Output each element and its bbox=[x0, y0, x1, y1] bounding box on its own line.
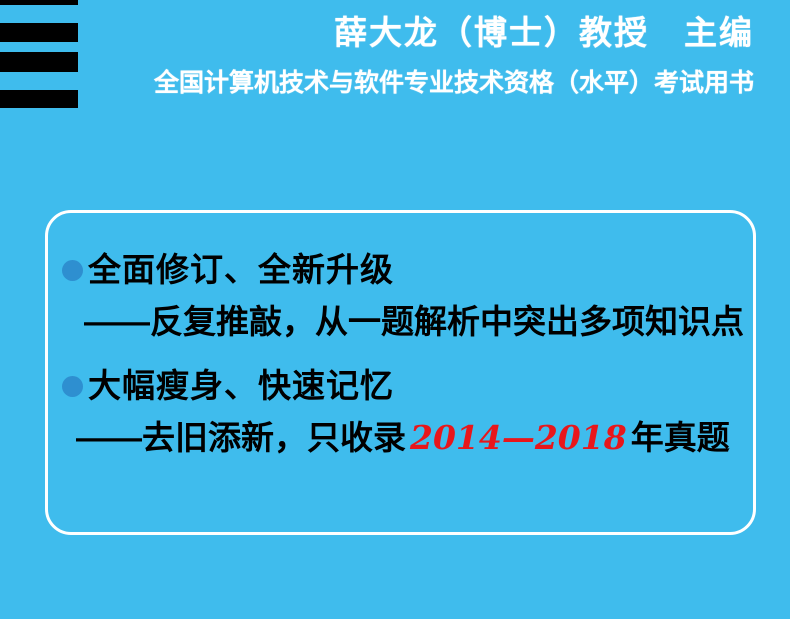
feature-title-row: 大幅瘦身、快速记忆 bbox=[62, 363, 745, 409]
feature-item: 全面修订、全新升级 ——反复推敲，从一题解析中突出多项知识点 bbox=[62, 247, 745, 345]
feature-item: 大幅瘦身、快速记忆 ——去旧添新，只收录2014—2018年真题 bbox=[62, 363, 745, 461]
feature-title-row: 全面修订、全新升级 bbox=[62, 247, 745, 293]
bullet-dot-icon bbox=[62, 376, 83, 397]
header: 薛大龙（博士）教授 主编 全国计算机技术与软件专业技术资格（水平）考试用书 bbox=[0, 0, 790, 104]
feature-detail-row: ——反复推敲，从一题解析中突出多项知识点 bbox=[62, 299, 745, 345]
poster-banner: 薛大龙（博士）教授 主编 全国计算机技术与软件专业技术资格（水平）考试用书 全面… bbox=[0, 0, 790, 619]
feature-detail-suffix: 年真题 bbox=[631, 419, 730, 456]
author-line: 薛大龙（博士）教授 主编 bbox=[0, 8, 754, 58]
feature-detail-prefix: ——反复推敲，从一题解析中突出多项知识点 bbox=[84, 303, 744, 340]
feature-detail-accent-years: 2014—2018 bbox=[406, 418, 631, 457]
bullet-dot-icon bbox=[62, 260, 83, 281]
feature-title-text: 大幅瘦身、快速记忆 bbox=[88, 366, 394, 406]
features-panel-inner: 全面修订、全新升级 ——反复推敲，从一题解析中突出多项知识点 大幅瘦身、快速记忆… bbox=[48, 213, 753, 532]
series-line: 全国计算机技术与软件专业技术资格（水平）考试用书 bbox=[0, 62, 754, 104]
feature-detail-row: ——去旧添新，只收录2014—2018年真题 bbox=[62, 415, 745, 461]
feature-detail-prefix: ——去旧添新，只收录 bbox=[76, 419, 406, 456]
features-panel: 全面修订、全新升级 ——反复推敲，从一题解析中突出多项知识点 大幅瘦身、快速记忆… bbox=[45, 210, 756, 535]
feature-title-text: 全面修订、全新升级 bbox=[88, 250, 394, 290]
